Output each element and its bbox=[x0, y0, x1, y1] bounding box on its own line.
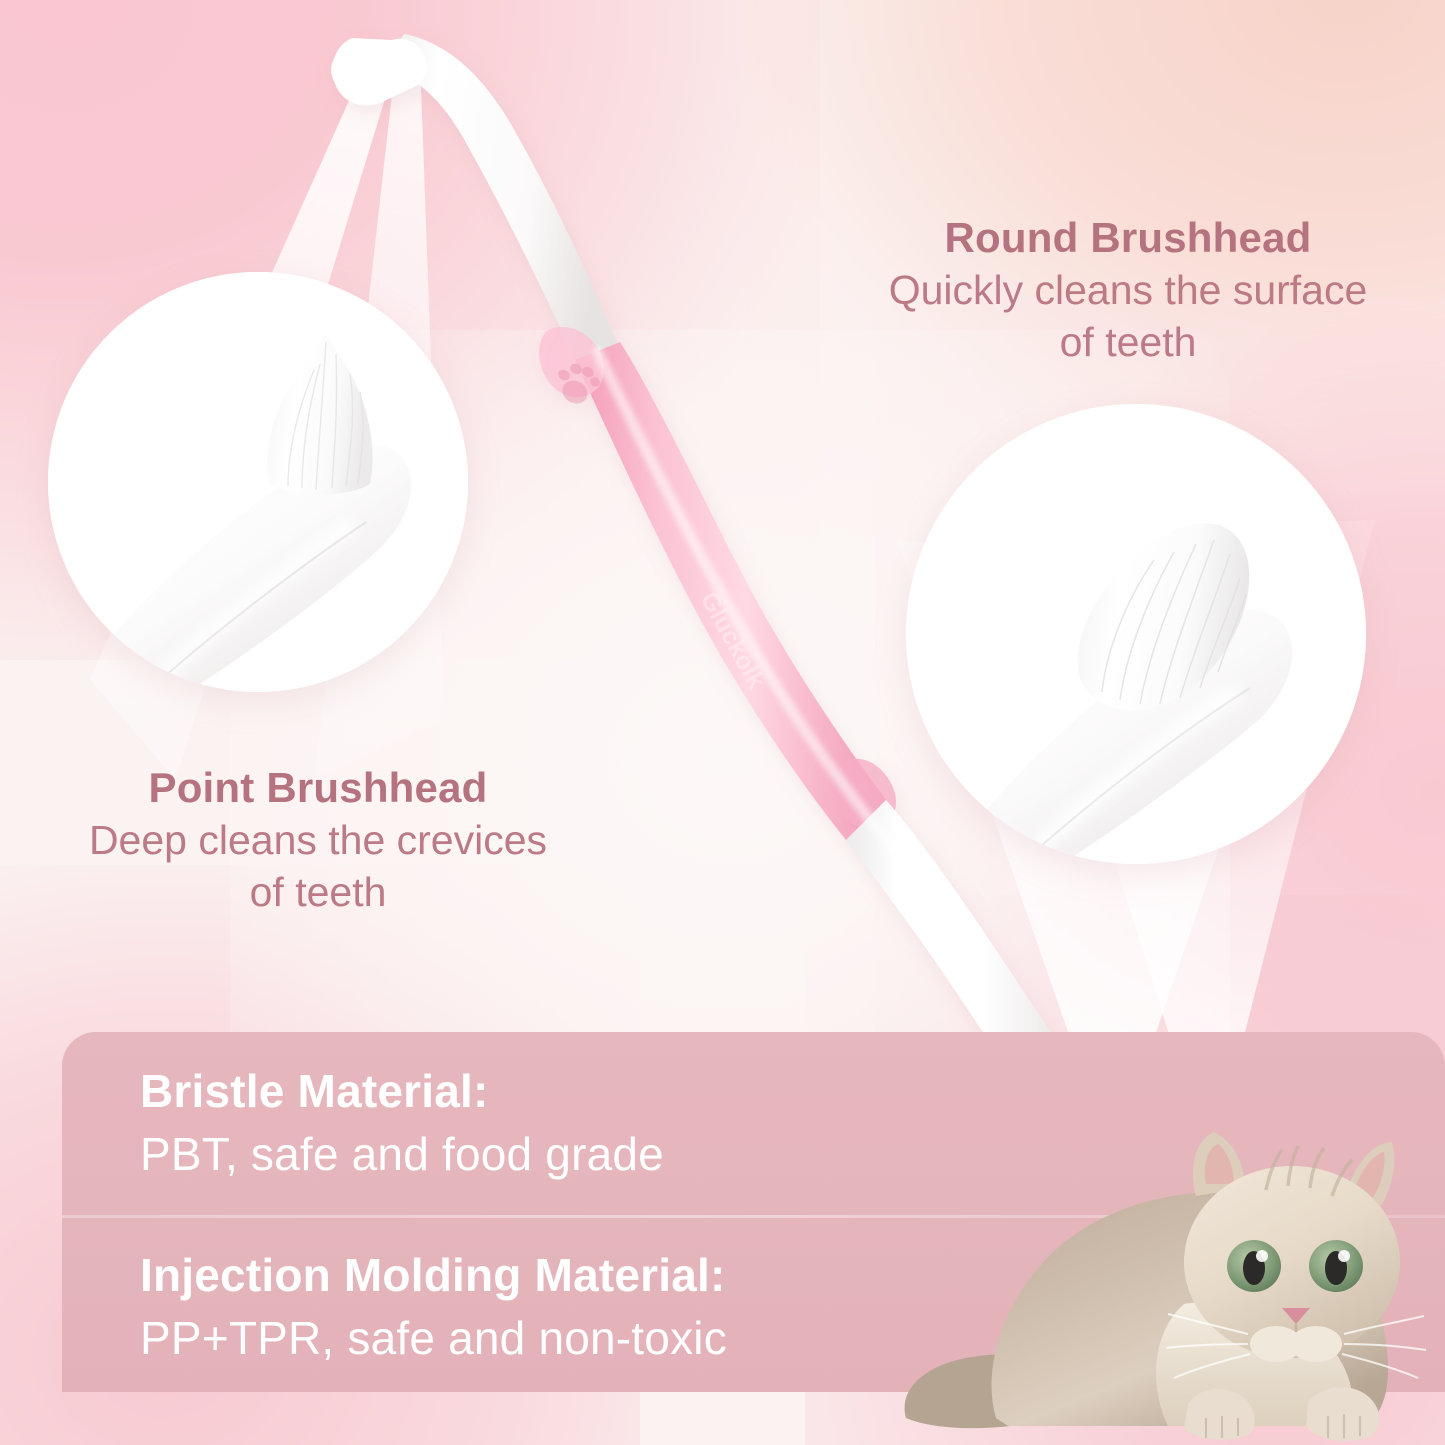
cat-eye-glint-right bbox=[1338, 1250, 1350, 1262]
callout-point-line1: Deep cleans the crevices bbox=[18, 814, 618, 866]
cat-eye-glint-left bbox=[1256, 1250, 1268, 1262]
product-infographic: Gluckolk bbox=[0, 0, 1445, 1445]
callout-point-title: Point Brushhead bbox=[18, 762, 618, 814]
bristle-material-label: Bristle Material: bbox=[140, 1060, 1040, 1122]
callout-round-line2: of teeth bbox=[828, 316, 1428, 368]
round-brushhead-closeup bbox=[906, 404, 1366, 864]
callout-round-brushhead: Round Brushhead Quickly cleans the surfa… bbox=[828, 212, 1428, 368]
callout-round-line1: Quickly cleans the surface bbox=[828, 264, 1428, 316]
cat-image bbox=[888, 1118, 1445, 1445]
cat-illustration bbox=[888, 1118, 1445, 1445]
callout-point-brushhead: Point Brushhead Deep cleans the crevices… bbox=[18, 762, 618, 918]
magnifier-left bbox=[48, 272, 468, 692]
point-brushhead-closeup bbox=[48, 272, 468, 692]
callout-round-title: Round Brushhead bbox=[828, 212, 1428, 264]
cat-muzzle-right bbox=[1290, 1326, 1342, 1362]
callout-point-line2: of teeth bbox=[18, 866, 618, 918]
magnifier-right bbox=[906, 404, 1366, 864]
